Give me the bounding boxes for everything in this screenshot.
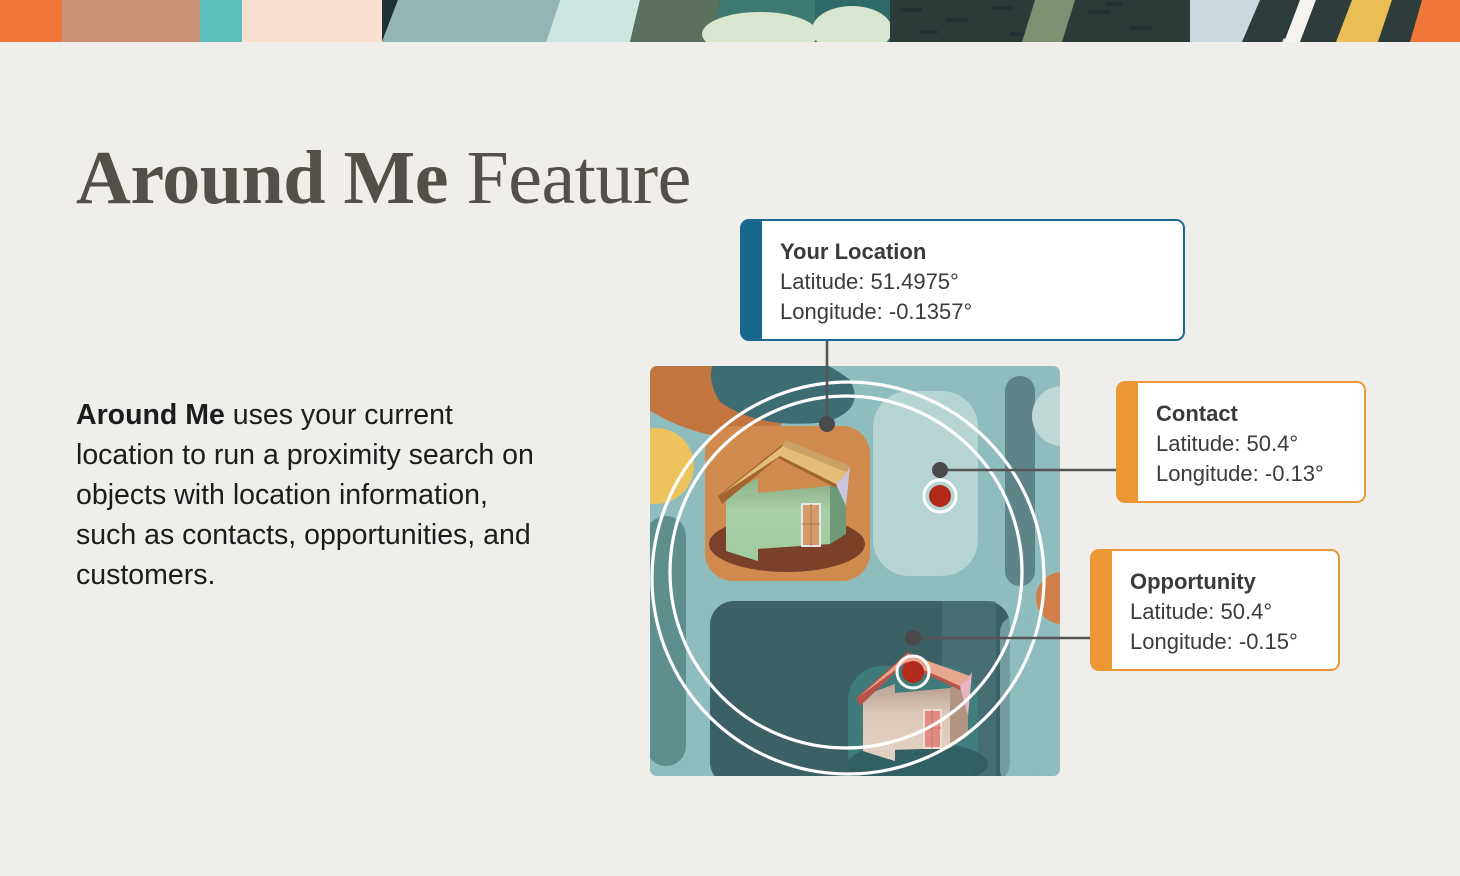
callout-accent-bar-your-location: [740, 219, 762, 341]
callout-title-opportunity: Opportunity: [1130, 567, 1320, 597]
description-paragraph: Around Me uses your current location to …: [76, 395, 546, 595]
callout-title-contact: Contact: [1156, 399, 1346, 429]
callout-body-contact: Contact Latitude: 50.4° Longitude: -0.13…: [1138, 381, 1366, 503]
callout-latitude-opportunity: Latitude: 50.4°: [1130, 597, 1320, 627]
callout-latitude-your-location: Latitude: 51.4975°: [780, 267, 1165, 297]
callout-accent-bar-contact: [1116, 381, 1138, 503]
page-title-strong: Around Me: [76, 136, 448, 220]
description-lead: Around Me: [76, 399, 225, 431]
callout-title-your-location: Your Location: [780, 237, 1165, 267]
callout-accent-bar-opportunity: [1090, 549, 1112, 671]
callout-longitude-opportunity: Longitude: -0.15°: [1130, 627, 1320, 657]
callout-card-contact: Contact Latitude: 50.4° Longitude: -0.13…: [1116, 381, 1366, 503]
callout-body-your-location: Your Location Latitude: 51.4975° Longitu…: [762, 219, 1185, 341]
callout-longitude-your-location: Longitude: -0.1357°: [780, 297, 1165, 327]
page-title: Around Me Feature: [76, 135, 691, 221]
callout-longitude-contact: Longitude: -0.13°: [1156, 459, 1346, 489]
map-artwork: [650, 366, 1060, 776]
top-band-artwork: [0, 0, 1460, 42]
top-decorative-band: [0, 0, 1460, 42]
callout-latitude-contact: Latitude: 50.4°: [1156, 429, 1346, 459]
map-illustration: [650, 366, 1060, 776]
callout-body-opportunity: Opportunity Latitude: 50.4° Longitude: -…: [1112, 549, 1340, 671]
callout-card-opportunity: Opportunity Latitude: 50.4° Longitude: -…: [1090, 549, 1340, 671]
page-title-light: Feature: [448, 136, 691, 220]
callout-card-your-location: Your Location Latitude: 51.4975° Longitu…: [740, 219, 1185, 341]
